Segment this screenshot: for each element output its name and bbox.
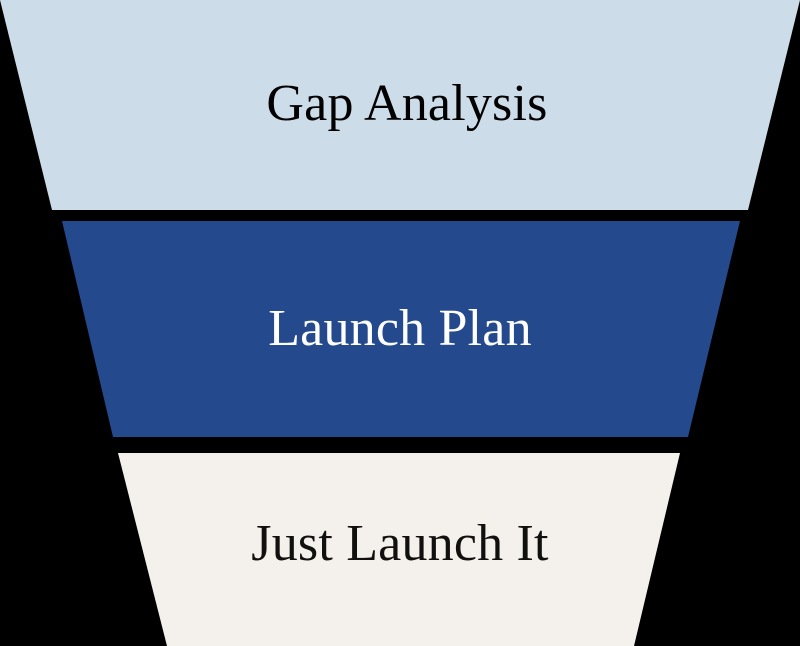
funnel-svg: Gap Analysis Launch Plan Just Launch It bbox=[0, 0, 800, 646]
funnel-stage-3-label: Just Launch It bbox=[251, 515, 549, 572]
funnel-stage-2[interactable]: Launch Plan bbox=[62, 221, 740, 437]
funnel-diagram: Gap Analysis Launch Plan Just Launch It bbox=[0, 0, 800, 646]
funnel-stage-1-label: Gap Analysis bbox=[266, 75, 547, 132]
funnel-stage-3[interactable]: Just Launch It bbox=[118, 453, 680, 646]
funnel-stage-2-label: Launch Plan bbox=[268, 300, 532, 357]
funnel-stage-1[interactable]: Gap Analysis bbox=[0, 0, 800, 210]
